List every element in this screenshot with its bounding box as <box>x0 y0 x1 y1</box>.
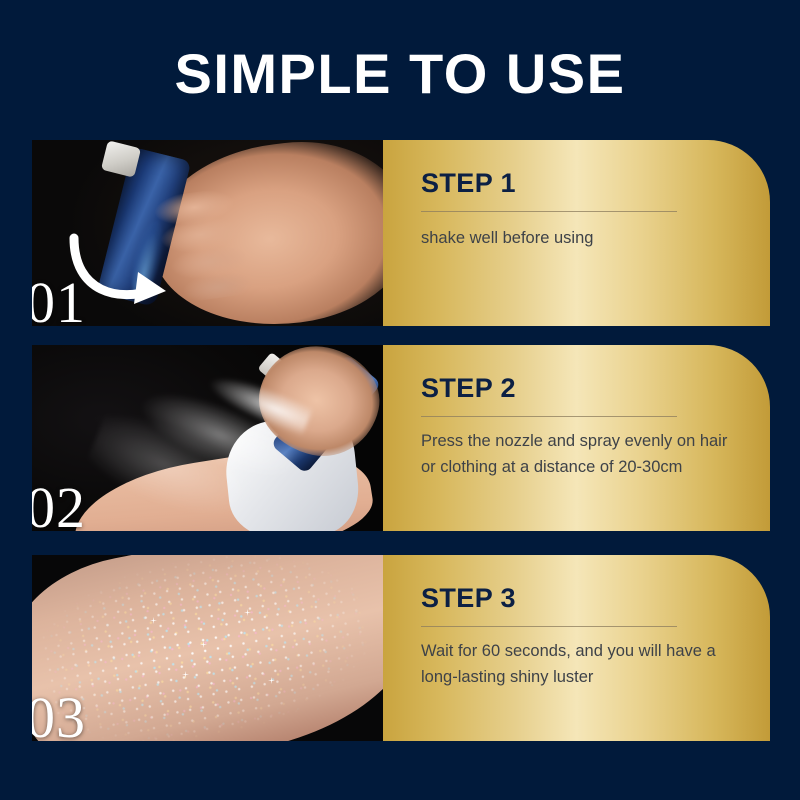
step-card-3: STEP 3 Wait for 60 seconds, and you will… <box>383 555 770 741</box>
step-photo-1: 01 <box>32 140 383 326</box>
step-photo-3: 03 <box>32 555 383 741</box>
step-body-1: shake well before using <box>421 226 736 252</box>
step-row-2: 02 STEP 2 Press the nozzle and spray eve… <box>32 345 770 531</box>
step-body-3: Wait for 60 seconds, and you will have a… <box>421 639 736 690</box>
card-divider <box>421 626 677 627</box>
sparkle-highlight <box>150 617 157 624</box>
step-title-1: STEP 1 <box>421 170 736 197</box>
card-divider <box>421 211 677 212</box>
step-number-2: 02 <box>32 479 86 531</box>
simple-to-use-poster: SIMPLE TO USE 01 STEP 1 shake well befor… <box>0 0 800 800</box>
step-row-1: 01 STEP 1 shake well before using <box>32 140 770 326</box>
sparkle-highlight <box>182 671 189 678</box>
sparkle-highlight <box>244 609 251 616</box>
sparkle-highlight <box>200 641 207 648</box>
step-number-1: 01 <box>32 274 86 326</box>
step-card-2: STEP 2 Press the nozzle and spray evenly… <box>383 345 770 531</box>
step-photo-2: 02 <box>32 345 383 531</box>
card-divider <box>421 416 677 417</box>
sparkle-highlight <box>268 677 275 684</box>
step-title-2: STEP 2 <box>421 375 736 402</box>
poster-header: SIMPLE TO USE <box>0 0 800 140</box>
step-card-1: STEP 1 shake well before using <box>383 140 770 326</box>
step-body-2: Press the nozzle and spray evenly on hai… <box>421 429 736 480</box>
step-number-3: 03 <box>32 689 86 741</box>
page-title: SIMPLE TO USE <box>175 46 626 102</box>
step-title-3: STEP 3 <box>421 585 736 612</box>
step-row-3: 03 STEP 3 Wait for 60 seconds, and you w… <box>32 555 770 741</box>
